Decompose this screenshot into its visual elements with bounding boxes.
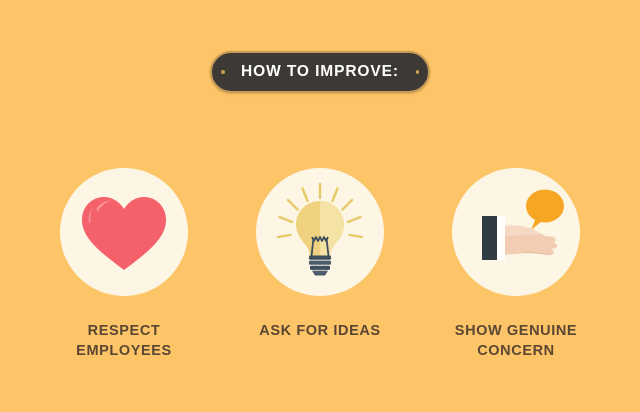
heart-icon [60,168,188,296]
banner-container: HOW TO IMPROVE: [0,51,640,93]
card-show-genuine-concern[interactable]: SHOW GENUINE CONCERN [418,168,614,361]
card-ask-for-ideas[interactable]: ASK FOR IDEAS [222,168,418,342]
icon-circle-ask-for-ideas [256,168,384,296]
icon-circle-respect-employees [60,168,188,296]
banner-left-dot-icon [221,70,225,74]
card-label-show-genuine-concern: SHOW GENUINE CONCERN [455,322,577,361]
lightbulb-icon [256,168,384,296]
icon-circle-show-genuine-concern [452,168,580,296]
banner-right-dot-icon [416,70,420,74]
cards-row: RESPECT EMPLOYEES [0,168,640,361]
speech-bubble-icon [526,190,564,231]
card-label-respect-employees: RESPECT EMPLOYEES [76,322,172,361]
banner: HOW TO IMPROVE: [210,51,430,93]
card-respect-employees[interactable]: RESPECT EMPLOYEES [26,168,222,361]
banner-title: HOW TO IMPROVE: [241,64,399,80]
hand-speech-bubble-icon [452,168,580,296]
card-label-ask-for-ideas: ASK FOR IDEAS [259,322,380,342]
hand-icon [482,216,557,260]
